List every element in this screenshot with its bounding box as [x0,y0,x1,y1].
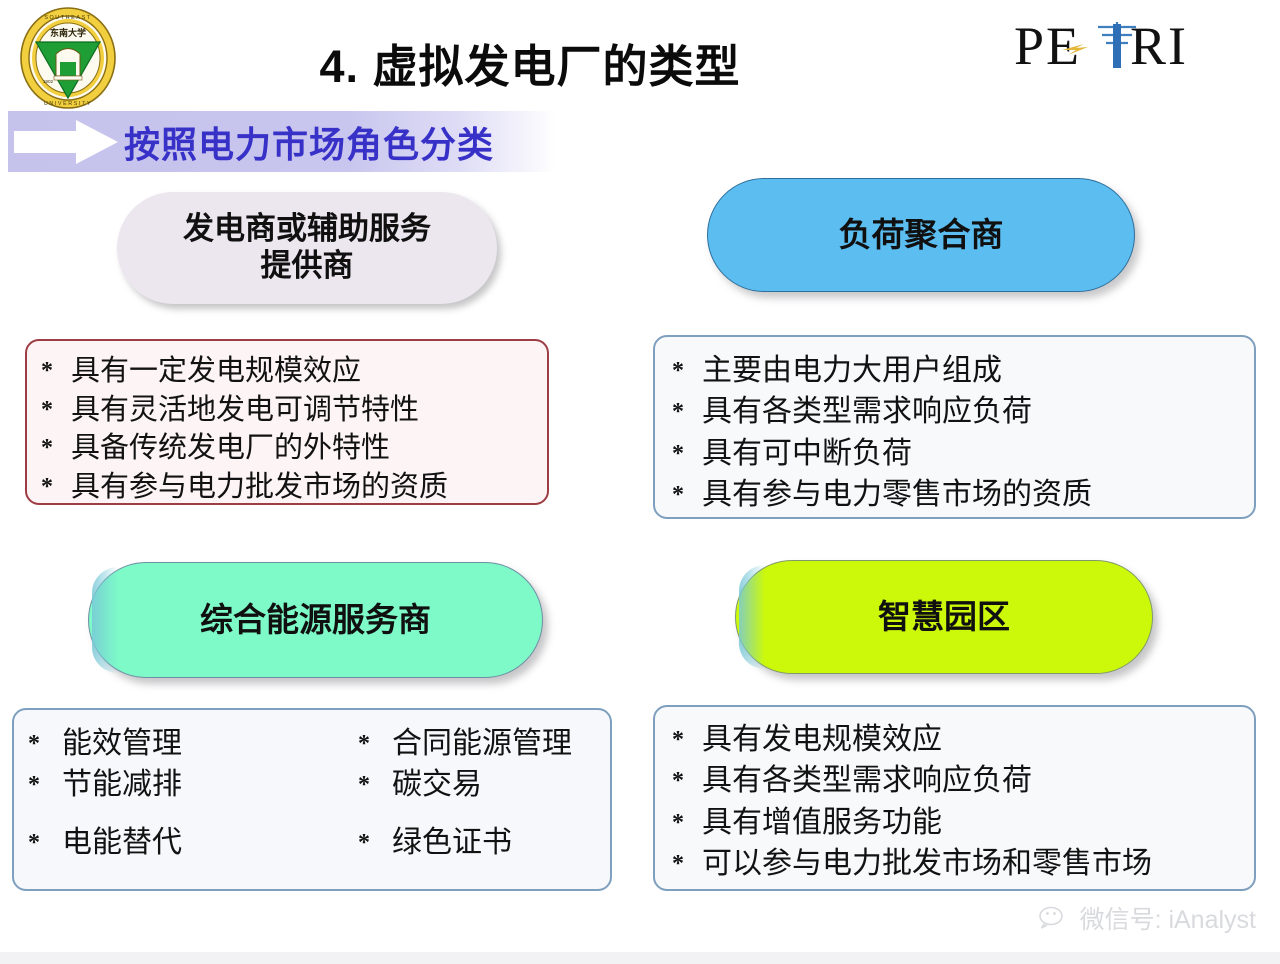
bottom-strip [0,952,1280,964]
list-item-text: 具有参与电力零售市场的资质 [702,474,1092,515]
southeast-university-logo: 东南大学 SOUTHEAST UNIVERSITY 1902 [14,6,122,110]
page-title: 4. 虚拟发电厂的类型 [150,30,910,95]
bullet-marker: * [672,442,702,466]
bullet-marker: * [358,770,392,801]
section-banner-label: 按照电力市场角色分类 [124,116,494,168]
list-item: * 碳交易 [358,765,610,804]
list-item: * 节能减排 [28,765,358,804]
bullet-marker: * [672,359,702,383]
bullet-marker: * [41,475,71,499]
bullet-box-generator: * 具有一定发电规模效应 * 具有灵活地发电可调节特性 * 具备传统发电厂的外特… [25,339,549,505]
pill-integrated-energy-service-label: 综合能源服务商 [200,601,431,640]
bullet-box-integrated-energy-service: * 能效管理 * 合同能源管理 * 节能减排 * 碳交易 * 电能替代 * 绿色… [12,708,612,891]
pill-generator[interactable]: 发电商或辅助服务 提供商 [117,192,497,304]
list-item: * 具有可中断负荷 [672,433,1254,474]
bullet-marker: * [672,400,702,424]
watermark-label: 微信号: iAnalyst [1080,900,1256,936]
bullet-grid-integrated-energy-service: * 能效管理 * 合同能源管理 * 节能减排 * 碳交易 * 电能替代 * 绿色… [14,710,610,862]
list-item-text: 节能减排 [62,765,182,804]
bullet-box-load-aggregator: * 主要由电力大用户组成 * 具有各类型需求响应负荷 * 具有可中断负荷 * 具… [653,335,1256,519]
svg-text:UNIVERSITY: UNIVERSITY [44,101,92,107]
pill-load-aggregator[interactable]: 负荷聚合商 [707,178,1135,292]
list-item-text: 具有灵活地发电可调节特性 [71,391,419,430]
list-item-text: 具有增值服务功能 [702,802,942,843]
bullet-list-generator: * 具有一定发电规模效应 * 具有灵活地发电可调节特性 * 具备传统发电厂的外特… [27,341,547,506]
bullet-marker: * [358,828,392,859]
list-item-text: 主要由电力大用户组成 [702,350,1002,391]
bullet-box-smart-park: * 具有发电规模效应 * 具有各类型需求响应负荷 * 具有增值服务功能 * 可以… [653,705,1256,891]
list-item: * 电能替代 [28,823,358,862]
bullet-list-smart-park: * 具有发电规模效应 * 具有各类型需求响应负荷 * 具有增值服务功能 * 可以… [655,707,1254,885]
pill-generator-label: 发电商或辅助服务 提供商 [183,211,431,284]
list-item-text: 具备传统发电厂的外特性 [71,429,390,468]
list-item: * 具有各类型需求响应负荷 [672,760,1254,801]
section-banner: 按照电力市场角色分类 [8,111,556,172]
pill-integrated-energy-service[interactable]: 综合能源服务商 [88,562,543,678]
list-item-text: 具有可中断负荷 [702,433,912,474]
bullet-marker: * [41,436,71,460]
bullet-marker: * [672,483,702,507]
list-item: * 具有灵活地发电可调节特性 [41,391,547,430]
watermark: 微信号: iAnalyst [1038,900,1256,936]
list-item: * 绿色证书 [358,823,610,862]
list-item: * 具有参与电力批发市场的资质 [41,468,547,507]
list-item: * 具备传统发电厂的外特性 [41,429,547,468]
svg-text:PE: PE [1014,16,1081,76]
list-item-text: 具有一定发电规模效应 [71,352,361,391]
list-item-text: 具有各类型需求响应负荷 [702,760,1032,801]
list-item: * 具有一定发电规模效应 [41,352,547,391]
pill-smart-park-label: 智慧园区 [878,598,1010,637]
list-item: * 具有增值服务功能 [672,802,1254,843]
bullet-marker: * [672,728,702,752]
arrow-right-icon [14,119,120,165]
svg-text:1902: 1902 [43,79,54,84]
list-item: * 能效管理 [28,724,358,763]
list-item: * 合同能源管理 [358,724,610,763]
list-item-text: 可以参与电力批发市场和零售市场 [702,843,1152,884]
bullet-marker: * [41,359,71,383]
svg-text:SOUTHEAST: SOUTHEAST [44,15,91,21]
list-item-text: 电能替代 [62,823,182,862]
list-item-text: 具有各类型需求响应负荷 [702,391,1032,432]
pill-load-aggregator-label: 负荷聚合商 [839,216,1004,255]
petri-logo: PE RI [1012,14,1222,80]
bullet-marker: * [672,852,702,876]
list-item-text: 具有发电规模效应 [702,719,942,760]
list-item: * 具有发电规模效应 [672,719,1254,760]
list-item: * 具有参与电力零售市场的资质 [672,474,1254,515]
bullet-marker: * [672,769,702,793]
bullet-marker: * [672,811,702,835]
bullet-marker: * [28,828,62,859]
bullet-marker: * [28,729,62,760]
list-item-text: 具有参与电力批发市场的资质 [71,468,448,507]
bullet-list-load-aggregator: * 主要由电力大用户组成 * 具有各类型需求响应负荷 * 具有可中断负荷 * 具… [655,337,1254,516]
svg-text:东南大学: 东南大学 [50,27,86,38]
list-item-text: 合同能源管理 [392,724,572,763]
list-item-text: 能效管理 [62,724,182,763]
bullet-marker: * [28,770,62,801]
list-item-text: 绿色证书 [392,823,512,862]
wechat-icon [1038,905,1072,931]
list-item: * 具有各类型需求响应负荷 [672,391,1254,432]
bullet-marker: * [358,729,392,760]
pill-smart-park[interactable]: 智慧园区 [735,560,1153,674]
bullet-marker: * [41,398,71,422]
svg-text:RI: RI [1130,16,1188,76]
list-item-text: 碳交易 [392,765,482,804]
list-item: * 可以参与电力批发市场和零售市场 [672,843,1254,884]
list-item: * 主要由电力大用户组成 [672,350,1254,391]
